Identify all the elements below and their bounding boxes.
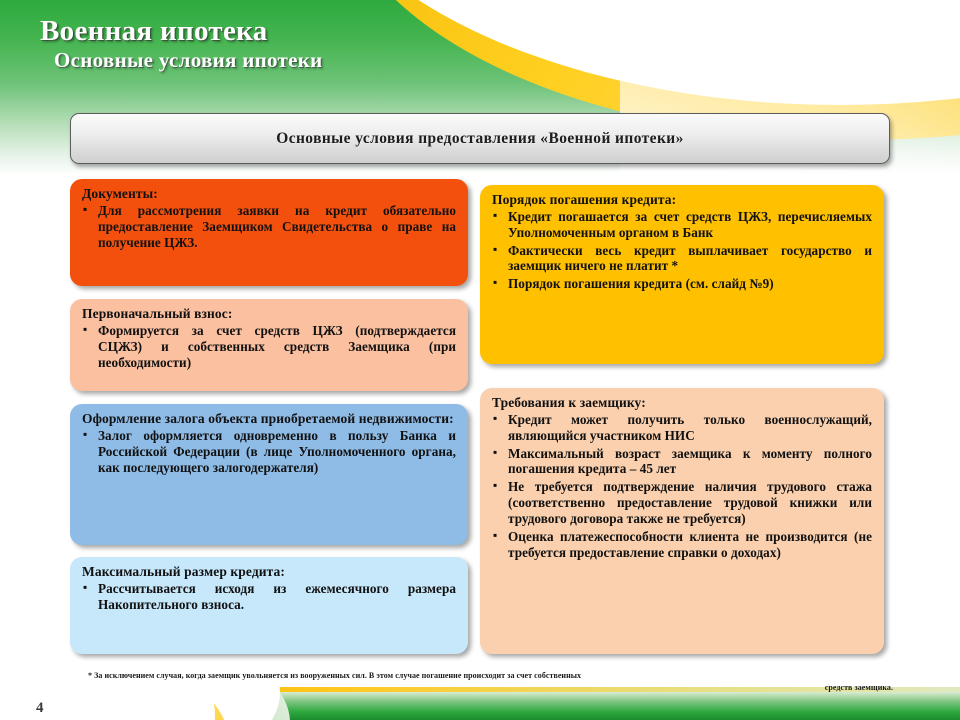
list-item: Кредит погашается за счет средств ЦЖЗ, п… [492,209,872,241]
card-documents: Документы: Для рассмотрения заявки на кр… [70,179,468,286]
slide: Военная ипотека Основные условия ипотеки… [0,0,960,720]
card-pledge-heading: Оформление залога объекта приобретаемой … [82,411,456,427]
card-max-loan-amount: Максимальный размер кредита: Рассчитывае… [70,557,468,654]
card-documents-list: Для рассмотрения заявки на кредит обязат… [82,203,456,251]
footnote-text-continued: средств заемщика. [88,682,893,694]
card-max-loan-amount-list: Рассчитывается исходя из ежемесячного ра… [82,581,456,613]
list-item: Максимальный возраст заемщика к моменту … [492,446,872,478]
list-item: Залог оформляется одновременно в пользу … [82,428,456,476]
card-borrower-requirements-list: Кредит может получить только военнослужа… [492,412,872,561]
card-downpayment: Первоначальный взнос: Формируется за сче… [70,299,468,391]
card-borrower-requirements: Требования к заемщику: Кредит может полу… [480,388,884,654]
card-repayment-order-list: Кредит погашается за счет средств ЦЖЗ, п… [492,209,872,292]
page-subtitle: Основные условия ипотеки [54,48,323,72]
footnote-text: * За исключением случая, когда заемщик у… [88,671,581,680]
card-downpayment-heading: Первоначальный взнос: [82,306,456,322]
card-repayment-order-heading: Порядок погашения кредита: [492,192,872,208]
card-documents-heading: Документы: [82,186,456,202]
list-item: Формируется за счет средств ЦЖЗ (подтвер… [82,323,456,371]
card-repayment-order: Порядок погашения кредита: Кредит погаша… [480,185,884,364]
card-borrower-requirements-heading: Требования к заемщику: [492,395,872,411]
card-pledge: Оформление залога объекта приобретаемой … [70,404,468,545]
list-item: Фактически весь кредит выплачивает госуд… [492,243,872,275]
list-item: Рассчитывается исходя из ежемесячного ра… [82,581,456,613]
list-item: Оценка платежеспособности клиента не про… [492,529,872,561]
list-item: Кредит может получить только военнослужа… [492,412,872,444]
header-banner: Основные условия предоставления «Военной… [70,113,890,164]
card-downpayment-list: Формируется за счет средств ЦЖЗ (подтвер… [82,323,456,371]
list-item: Порядок погашения кредита (см. слайд №9) [492,276,872,292]
page-title: Военная ипотека [40,16,323,47]
slide-number: 4 [36,700,44,717]
list-item: Для рассмотрения заявки на кредит обязат… [82,203,456,251]
list-item: Не требуется подтверждение наличия трудо… [492,479,872,527]
footnote: * За исключением случая, когда заемщик у… [88,670,893,693]
card-pledge-list: Залог оформляется одновременно в пользу … [82,428,456,476]
slide-title-block: Военная ипотека Основные условия ипотеки [40,16,323,72]
bottom-green-band [0,692,960,720]
header-banner-label: Основные условия предоставления «Военной… [276,130,684,148]
card-max-loan-amount-heading: Максимальный размер кредита: [82,564,456,580]
